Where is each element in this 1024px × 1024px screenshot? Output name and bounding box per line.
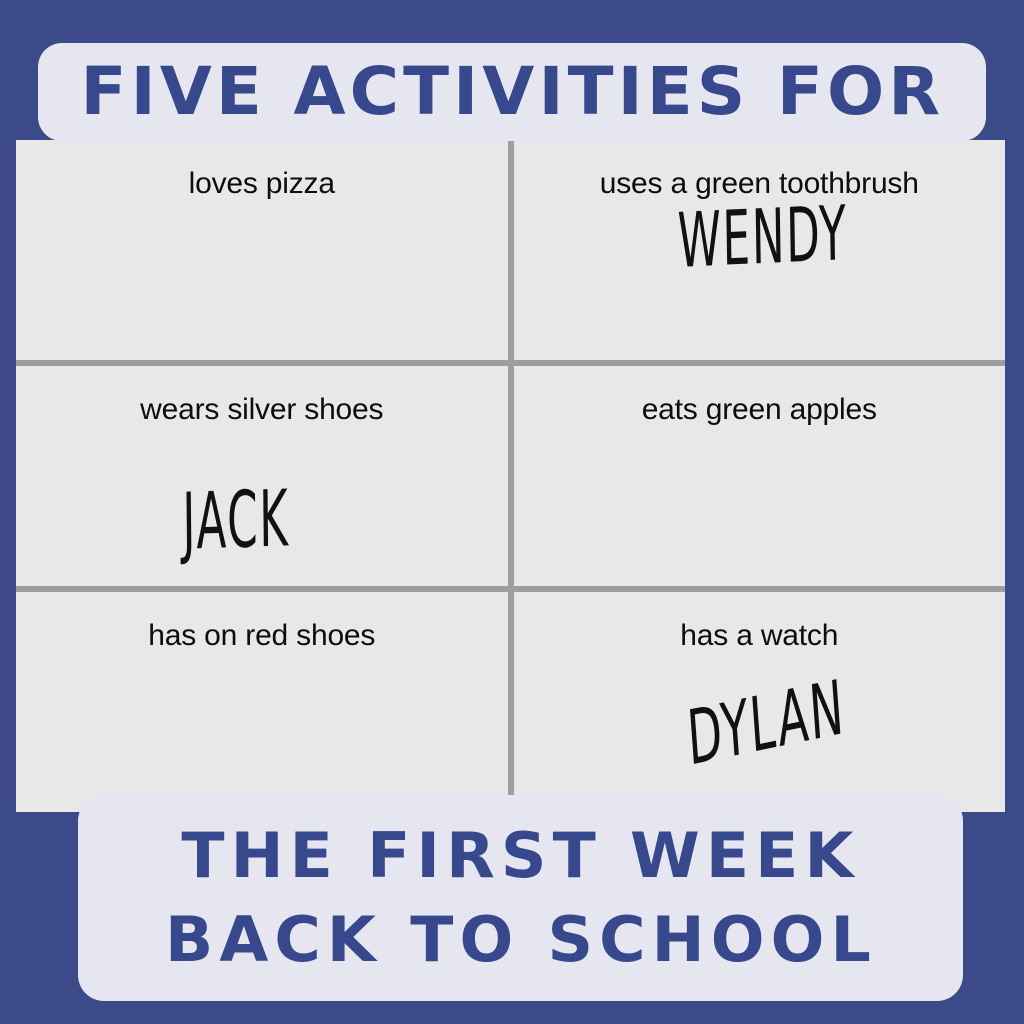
poster-footer-banner: THE FIRST WEEK BACK TO SCHOOL <box>78 795 963 1001</box>
bingo-cell-4[interactable]: eats green apples <box>514 366 1006 586</box>
bingo-cell-prompt: wears silver shoes <box>140 386 383 435</box>
bingo-cell-signature: DYLAN <box>686 674 848 775</box>
bingo-cell-prompt: loves pizza <box>189 160 335 209</box>
bingo-grid: loves pizza uses a green toothbrush WEND… <box>16 140 1005 812</box>
poster-canvas: loves pizza uses a green toothbrush WEND… <box>0 0 1024 1024</box>
bingo-cell-prompt: has a watch <box>680 612 838 661</box>
poster-subtitle-line-1: THE FIRST WEEK <box>181 825 859 887</box>
poster-subtitle-line-2: BACK TO SCHOOL <box>165 909 877 971</box>
bingo-cell-signature: WENDY <box>677 201 848 278</box>
bingo-cell-prompt: has on red shoes <box>148 612 375 661</box>
poster-header-banner: FIVE ACTIVITIES FOR <box>38 43 986 141</box>
bingo-cell-signature: JACK <box>182 485 290 560</box>
bingo-cell-1[interactable]: loves pizza <box>16 140 508 360</box>
bingo-cell-2[interactable]: uses a green toothbrush WENDY <box>514 140 1006 360</box>
poster-title-line-1: FIVE ACTIVITIES FOR <box>80 59 944 125</box>
bingo-cell-5[interactable]: has on red shoes <box>16 592 508 812</box>
bingo-cell-6[interactable]: has a watch DYLAN <box>514 592 1006 812</box>
bingo-cell-3[interactable]: wears silver shoes JACK <box>16 366 508 586</box>
bingo-cell-prompt: eats green apples <box>642 386 877 435</box>
